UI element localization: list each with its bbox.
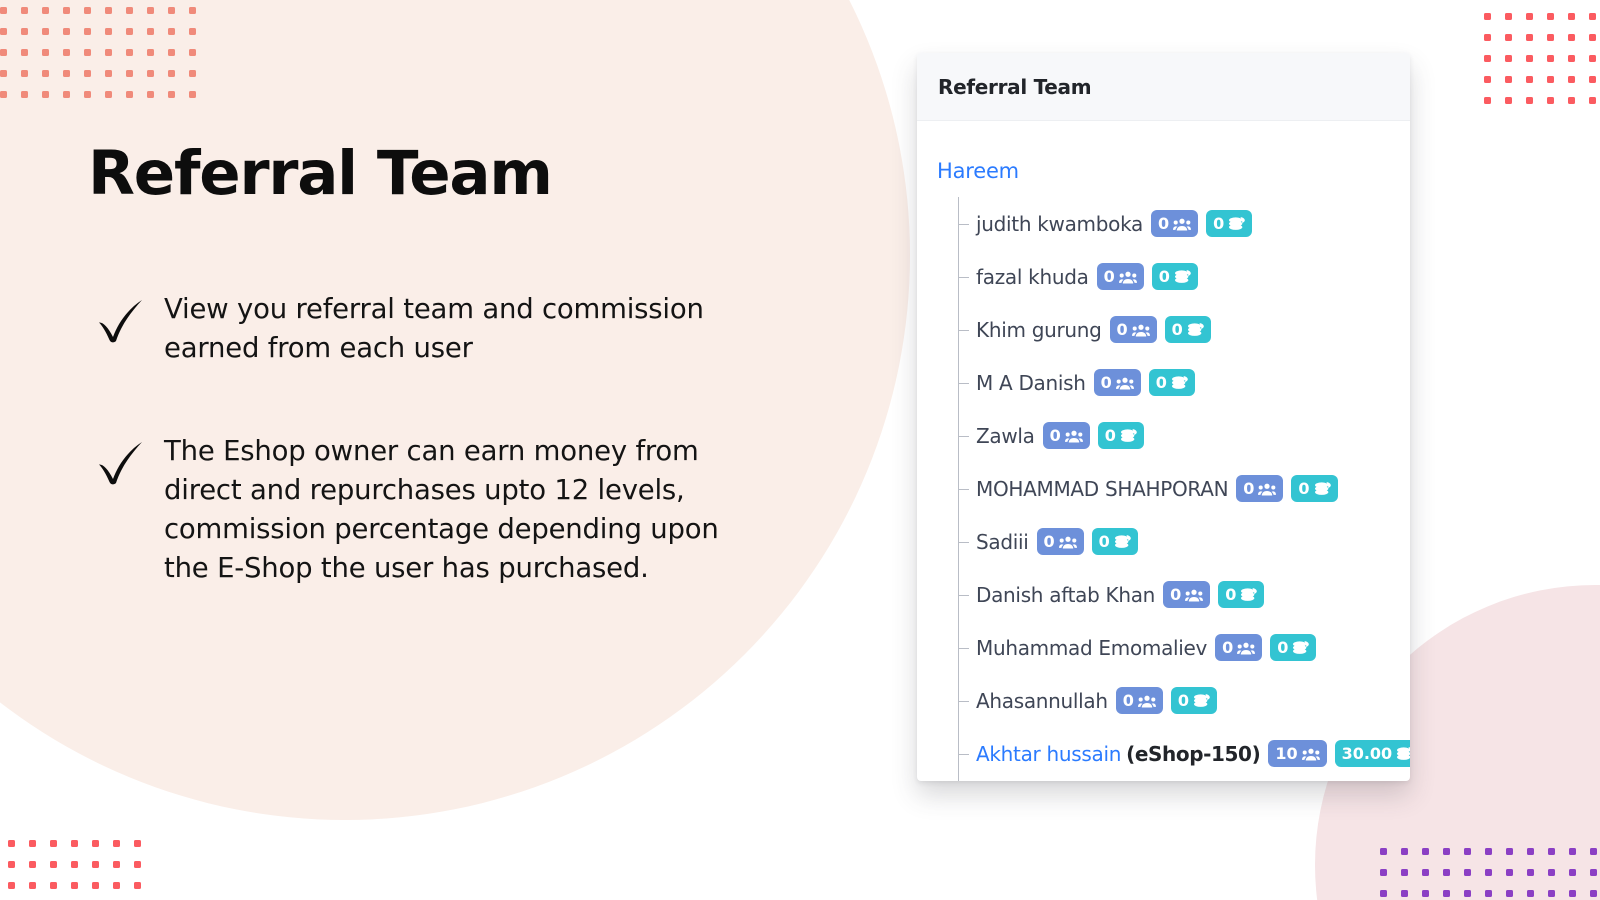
referral-tree-row: MOHAMMAD SHAHPORAN00 [958, 462, 1410, 515]
feature-bullet-text: View you referral team and commission ea… [164, 290, 732, 368]
check-icon [92, 434, 148, 490]
team-count-badge[interactable]: 0 [1163, 581, 1210, 608]
card-header: Referral Team [917, 53, 1410, 121]
users-icon [1132, 323, 1150, 337]
team-count-badge[interactable]: 0 [1215, 634, 1262, 661]
tree-root-node[interactable]: Hareem [937, 159, 1410, 183]
dots-top-right-pattern [1484, 0, 1600, 132]
commission-value: 0 [1225, 587, 1236, 603]
users-icon [1237, 641, 1255, 655]
users-icon [1302, 747, 1320, 761]
feature-bullet: View you referral team and commission ea… [92, 290, 732, 368]
users-icon [1116, 376, 1134, 390]
coins-icon [1171, 375, 1188, 390]
referral-tree: judith kwamboka00fazal khuda00Khim gurun… [937, 197, 1410, 780]
member-name: judith kwamboka [976, 212, 1143, 236]
referral-tree-row: Sadiii00 [958, 515, 1410, 568]
commission-badge[interactable]: 0 [1098, 422, 1144, 449]
member-name: fazal khuda [976, 265, 1089, 289]
referral-tree-row: Muhammad Emomaliev00 [958, 621, 1410, 674]
team-count-value: 0 [1104, 269, 1115, 285]
coins-icon [1120, 428, 1137, 443]
commission-badge[interactable]: 0 [1171, 687, 1217, 714]
commission-badge[interactable]: 0 [1206, 210, 1252, 237]
member-name[interactable]: Akhtar hussain [976, 742, 1121, 766]
page-title: Referral Team [88, 138, 552, 209]
commission-badge[interactable]: 0 [1149, 369, 1195, 396]
slide-copy-pane: Referral Team View you referral team and… [0, 0, 900, 900]
commission-value: 0 [1178, 693, 1189, 709]
referral-tree-row: Danish aftab Khan00 [958, 568, 1410, 621]
member-name: Khim gurung [976, 318, 1102, 342]
member-name: Muhammad Emomaliev [976, 636, 1207, 660]
feature-bullet-text: The Eshop owner can earn money from dire… [164, 432, 732, 588]
team-count-value: 0 [1117, 322, 1128, 338]
referral-tree-row: Ahasannullah00 [958, 674, 1410, 727]
team-count-value: 10 [1275, 746, 1297, 762]
member-name: Sadiii [976, 530, 1029, 554]
member-name: M A Danish [976, 371, 1086, 395]
team-count-badge[interactable]: 0 [1110, 316, 1157, 343]
team-count-value: 0 [1158, 216, 1169, 232]
commission-value: 0 [1105, 428, 1116, 444]
commission-badge[interactable]: 0 [1152, 263, 1198, 290]
team-count-badge[interactable]: 0 [1236, 475, 1283, 502]
commission-value: 0 [1298, 481, 1309, 497]
team-count-value: 0 [1123, 693, 1134, 709]
team-count-badge[interactable]: 10 [1268, 740, 1326, 767]
member-name: Danish aftab Khan [976, 583, 1155, 607]
coins-icon [1228, 216, 1245, 231]
coins-icon [1314, 481, 1331, 496]
coins-icon [1240, 587, 1257, 602]
users-icon [1138, 694, 1156, 708]
team-count-value: 0 [1243, 481, 1254, 497]
commission-badge[interactable]: 0 [1092, 528, 1138, 555]
commission-badge[interactable]: 0 [1165, 316, 1211, 343]
check-icon [92, 292, 148, 348]
commission-value: 0 [1277, 640, 1288, 656]
coins-icon [1193, 693, 1210, 708]
card-body: Hareem judith kwamboka00fazal khuda00Khi… [917, 121, 1410, 780]
commission-badge[interactable]: 0 [1218, 581, 1264, 608]
coins-icon [1114, 534, 1131, 549]
coins-icon [1174, 269, 1191, 284]
team-count-badge[interactable]: 0 [1094, 369, 1141, 396]
users-icon [1065, 429, 1083, 443]
commission-value: 0 [1172, 322, 1183, 338]
coins-icon [1187, 322, 1204, 337]
referral-tree-row: M A Danish00 [958, 356, 1410, 409]
member-name: MOHAMMAD SHAHPORAN [976, 477, 1228, 501]
team-count-value: 0 [1050, 428, 1061, 444]
team-count-badge[interactable]: 0 [1043, 422, 1090, 449]
commission-value: 0 [1156, 375, 1167, 391]
member-shop-label: (eShop-150) [1126, 742, 1260, 766]
dots-bottom-right-pattern [1380, 848, 1600, 900]
team-count-badge[interactable]: 0 [1116, 687, 1163, 714]
team-count-badge[interactable]: 0 [1097, 263, 1144, 290]
commission-value: 0 [1159, 269, 1170, 285]
team-count-value: 0 [1044, 534, 1055, 550]
team-count-badge[interactable]: 0 [1037, 528, 1084, 555]
card-title: Referral Team [938, 75, 1091, 99]
referral-tree-row: judith kwamboka00 [958, 197, 1410, 250]
commission-badge[interactable]: 0 [1270, 634, 1316, 661]
feature-bullet: The Eshop owner can earn money from dire… [92, 432, 732, 588]
member-name: Ahasannullah [976, 689, 1108, 713]
users-icon [1185, 588, 1203, 602]
team-count-value: 0 [1101, 375, 1112, 391]
commission-value: 0 [1099, 534, 1110, 550]
coins-icon [1292, 640, 1309, 655]
commission-value: 30.00 [1342, 746, 1393, 762]
users-icon [1173, 217, 1191, 231]
referral-tree-row: Khim gurung00 [958, 303, 1410, 356]
member-name: Zawla [976, 424, 1035, 448]
commission-badge[interactable]: 30.00 [1335, 740, 1410, 767]
commission-badge[interactable]: 0 [1291, 475, 1337, 502]
commission-value: 0 [1213, 216, 1224, 232]
coins-icon [1396, 746, 1410, 761]
team-count-value: 0 [1170, 587, 1181, 603]
team-count-value: 0 [1222, 640, 1233, 656]
users-icon [1119, 270, 1137, 284]
referral-team-card: Referral Team Hareem judith kwamboka00fa… [917, 53, 1410, 781]
users-icon [1059, 535, 1077, 549]
referral-tree-row: Zawla00 [958, 409, 1410, 462]
referral-tree-row: Akhtar hussain(eShop-150)1030.00 [958, 727, 1410, 780]
team-count-badge[interactable]: 0 [1151, 210, 1198, 237]
referral-tree-row: fazal khuda00 [958, 250, 1410, 303]
users-icon [1258, 482, 1276, 496]
